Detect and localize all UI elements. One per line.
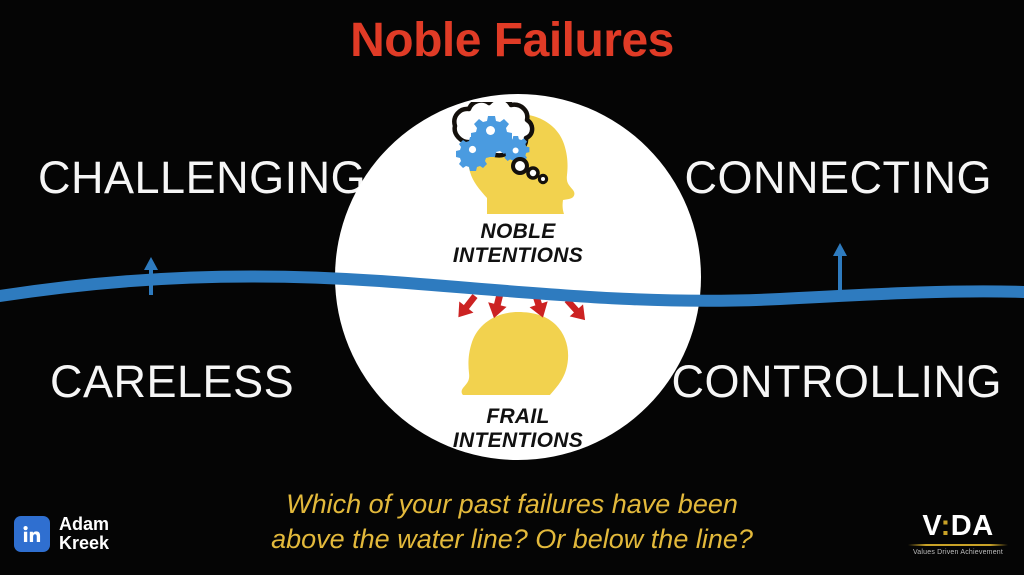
- quadrant-label-top-left: CHALLENGING: [38, 152, 366, 204]
- vida-wordmark: V:DA: [906, 512, 1010, 541]
- page-title: Noble Failures: [0, 16, 1024, 66]
- noble-intentions-label: NOBLE INTENTIONS: [335, 220, 701, 267]
- vida-tagline: Values Driven Achievement: [906, 549, 1010, 556]
- vida-word-part2: DA: [951, 510, 994, 542]
- vida-logo: V:DA Values Driven Achievement: [906, 512, 1010, 556]
- center-circle: NOBLE INTENTIONS: [335, 94, 701, 460]
- vida-colon: :: [941, 510, 951, 542]
- frail-intentions-label-line2: INTENTIONS: [453, 429, 583, 452]
- frail-intentions-block: FRAIL INTENTIONS: [335, 290, 701, 452]
- linkedin-icon[interactable]: [14, 516, 50, 552]
- up-arrow-right: [833, 243, 847, 295]
- frail-intentions-label-line1: FRAIL: [486, 405, 549, 428]
- vida-word-part1: V: [922, 510, 940, 542]
- credit-name: Adam Kreek: [59, 515, 109, 553]
- linkedin-credit[interactable]: Adam Kreek: [14, 515, 109, 553]
- caption-question: Which of your past failures have been ab…: [0, 487, 1024, 556]
- up-arrow-left: [144, 257, 158, 295]
- head-with-pressure-arrows-icon: [335, 290, 701, 395]
- head-with-thought-bubble-gears-icon: [335, 102, 701, 214]
- noble-intentions-label-line2: INTENTIONS: [453, 244, 583, 267]
- frail-intentions-label: FRAIL INTENTIONS: [335, 405, 701, 452]
- caption-line-1: Which of your past failures have been: [0, 487, 1024, 522]
- caption-line-2: above the water line? Or below the line?: [0, 522, 1024, 557]
- quadrant-label-top-right: CONNECTING: [685, 152, 993, 204]
- quadrant-label-bottom-right: CONTROLLING: [671, 356, 1002, 408]
- slide-canvas: Noble Failures CHALLENGING CONNECTING CA…: [0, 0, 1024, 575]
- noble-intentions-block: NOBLE INTENTIONS: [335, 102, 701, 267]
- vida-underline: [908, 544, 1008, 546]
- quadrant-label-bottom-left: CARELESS: [50, 356, 294, 408]
- noble-intentions-label-line1: NOBLE: [481, 220, 556, 243]
